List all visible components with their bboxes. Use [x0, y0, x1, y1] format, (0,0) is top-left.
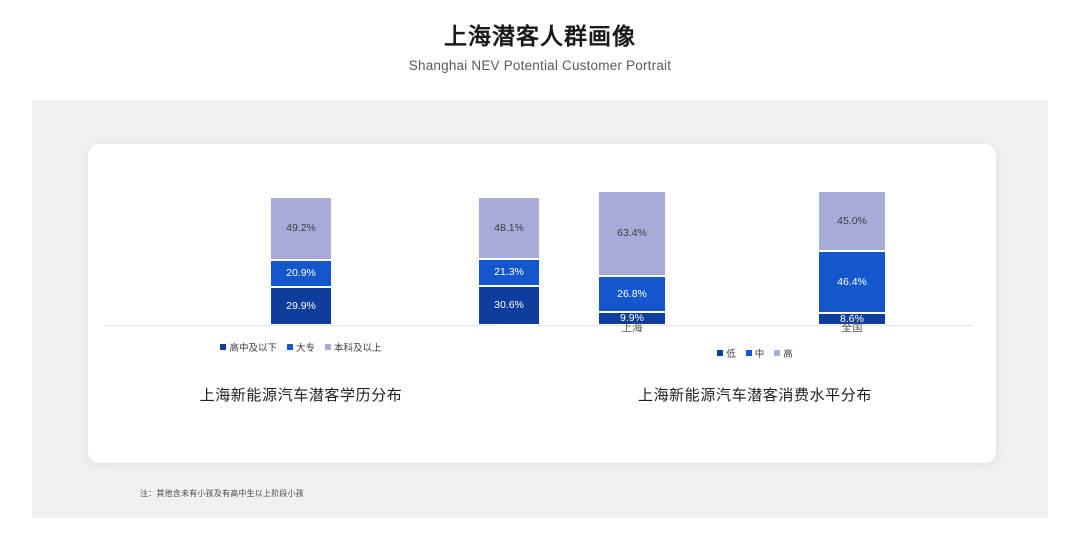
x-axis-label: 上海: [598, 320, 666, 335]
bar-segment-label: 29.9%: [286, 301, 316, 312]
legend-item[interactable]: 大专: [287, 340, 315, 354]
legend-item[interactable]: 高: [774, 346, 793, 360]
legend-label: 中: [755, 346, 765, 360]
plot-area-consumption: 63.4%26.8%9.9% 45.0%46.4%8.6% 上海 全国: [530, 178, 980, 326]
bar-segment[interactable]: 63.4%: [598, 191, 666, 276]
bar-segment-label: 63.4%: [617, 228, 647, 239]
legend-swatch: [325, 344, 331, 350]
chart-panel-education: 49.2%20.9%29.9% 48.1%21.3%30.6% 高中及以下大专本…: [96, 144, 506, 463]
bar-segment[interactable]: 26.8%: [598, 276, 666, 312]
legend-swatch: [287, 344, 293, 350]
bar-segment[interactable]: 46.4%: [818, 251, 886, 313]
chart-caption-education: 上海新能源汽车潜客学历分布: [96, 384, 506, 405]
footnote: 注：其他含未有小孩及有高中生以上阶段小孩: [140, 488, 304, 499]
legend-item[interactable]: 中: [746, 346, 765, 360]
chart-card: 49.2%20.9%29.9% 48.1%21.3%30.6% 高中及以下大专本…: [88, 144, 996, 463]
legend-label: 大专: [296, 340, 315, 354]
legend-label: 高: [783, 346, 793, 360]
bar-segment[interactable]: 20.9%: [270, 260, 332, 287]
plot-area-education: 49.2%20.9%29.9% 48.1%21.3%30.6%: [96, 178, 506, 326]
legend-item[interactable]: 高中及以下: [220, 340, 277, 354]
bar-segment-label: 45.0%: [837, 216, 867, 227]
bar-segment-label: 48.1%: [494, 223, 524, 234]
stacked-bar[interactable]: 49.2%20.9%29.9%: [270, 197, 332, 325]
charts-row: 49.2%20.9%29.9% 48.1%21.3%30.6% 高中及以下大专本…: [88, 144, 996, 463]
bar-segment-label: 20.9%: [286, 268, 316, 279]
bar-segment[interactable]: 45.0%: [818, 191, 886, 251]
legend-item[interactable]: 低: [717, 346, 736, 360]
legend-swatch: [220, 344, 226, 350]
slide-panel: 49.2%20.9%29.9% 48.1%21.3%30.6% 高中及以下大专本…: [32, 100, 1048, 518]
legend-label: 低: [726, 346, 736, 360]
bar-segment-label: 46.4%: [837, 277, 867, 288]
bar-segment[interactable]: 49.2%: [270, 197, 332, 260]
page-subtitle: Shanghai NEV Potential Customer Portrait: [0, 57, 1080, 75]
legend-label: 本科及以上: [334, 340, 382, 354]
legend-swatch: [774, 350, 780, 356]
chart-legend-consumption: 低中高: [530, 346, 980, 360]
legend-swatch: [746, 350, 752, 356]
legend-item[interactable]: 本科及以上: [325, 340, 382, 354]
bar-segment-label: 21.3%: [494, 267, 524, 278]
legend-swatch: [717, 350, 723, 356]
bar-segment-label: 49.2%: [286, 223, 316, 234]
stacked-bar[interactable]: 63.4%26.8%9.9%: [598, 191, 666, 325]
bar-segment[interactable]: 29.9%: [270, 287, 332, 325]
page-title: 上海潜客人群画像: [0, 22, 1080, 51]
page-header: 上海潜客人群画像 Shanghai NEV Potential Customer…: [0, 0, 1080, 74]
chart-legend-education: 高中及以下大专本科及以上: [96, 340, 506, 354]
chart-caption-consumption: 上海新能源汽车潜客消费水平分布: [530, 384, 980, 405]
bar-segment-label: 26.8%: [617, 289, 647, 300]
stacked-bar[interactable]: 45.0%46.4%8.6%: [818, 191, 886, 325]
x-axis-line: [104, 325, 498, 326]
bar-segment-label: 30.6%: [494, 300, 524, 311]
x-axis-label: 全国: [818, 320, 886, 335]
chart-panel-consumption: 63.4%26.8%9.9% 45.0%46.4%8.6% 上海 全国 低中高 …: [530, 144, 980, 463]
legend-label: 高中及以下: [229, 340, 277, 354]
